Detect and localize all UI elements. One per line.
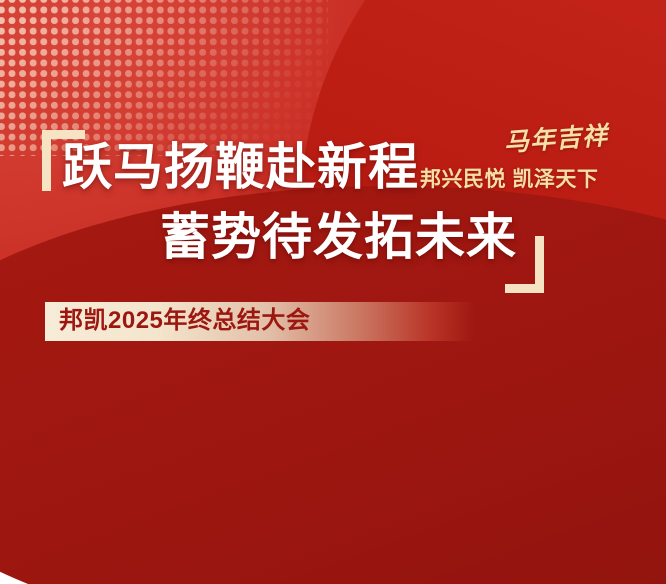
bottom-curves-group [0, 0, 666, 584]
poster-canvas: 跃马扬鞭赴新程 蓄势待发拓未来 马年吉祥 邦兴民悦 凯泽天下 邦凯2025年终总… [0, 0, 666, 584]
event-banner-text: 邦凯2025年终总结大会 [59, 308, 310, 334]
title-line-2: 蓄势待发拓未来 [160, 212, 517, 262]
title-line-1: 跃马扬鞭赴新程 [62, 142, 419, 192]
slogan-text: 邦兴民悦 凯泽天下 [420, 169, 598, 190]
